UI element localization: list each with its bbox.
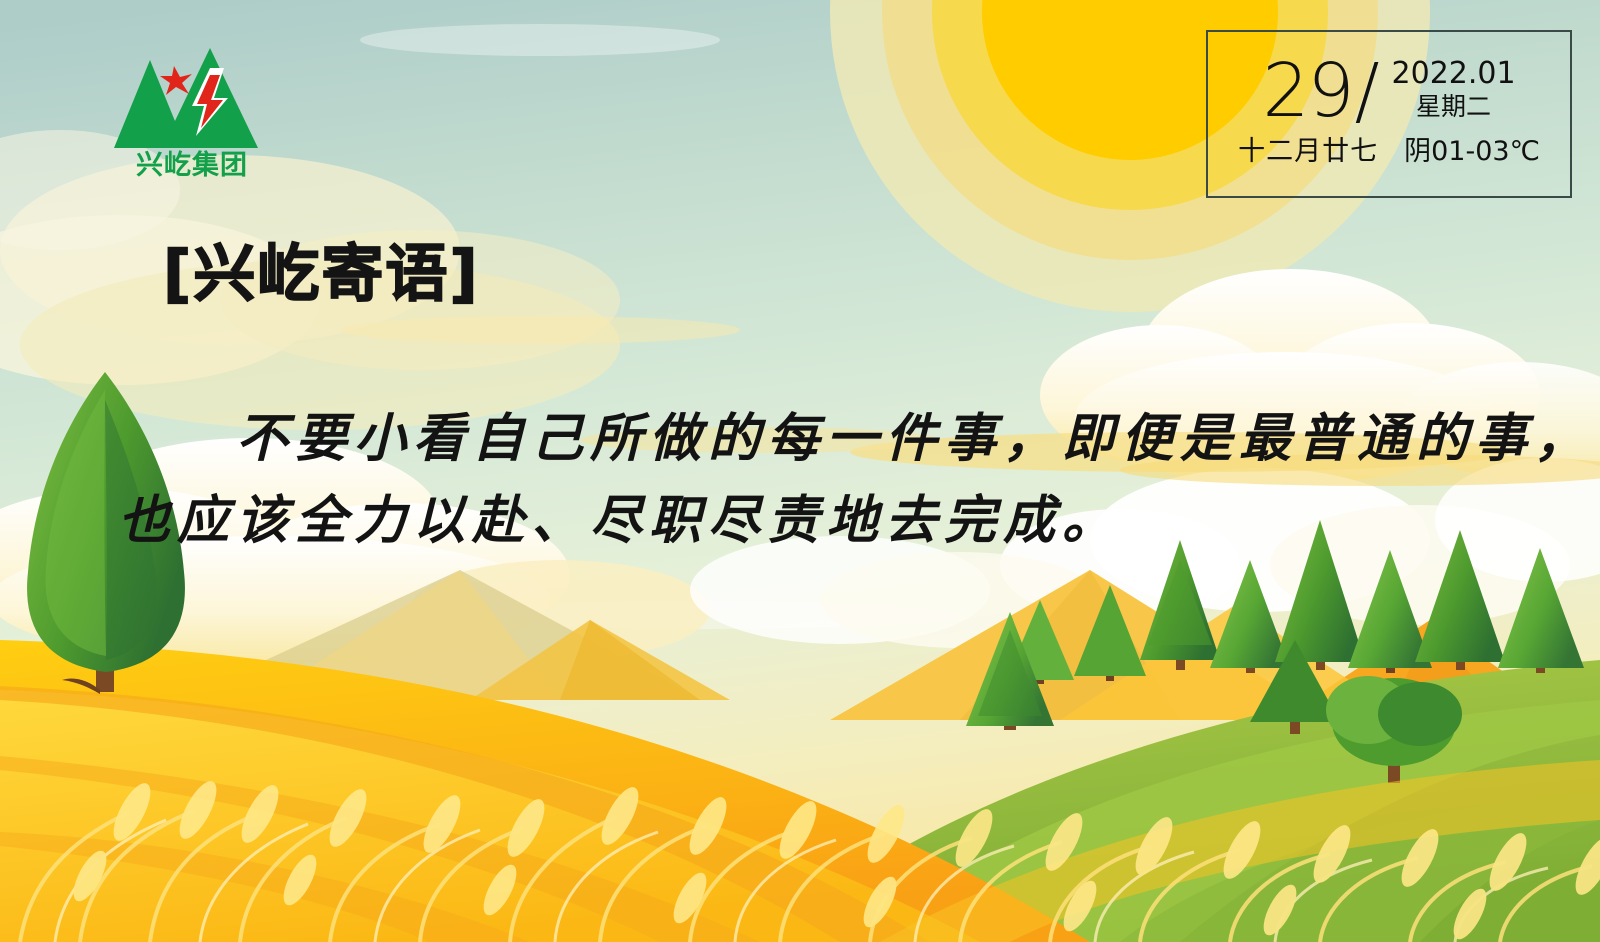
- poster-canvas: 兴屹集团 29 / 2022.01 星期二 十二月廿七 阴01-03℃ [兴屹寄…: [0, 0, 1600, 942]
- logo-mark: 兴屹集团: [104, 44, 280, 178]
- date-card-top-row: 29 / 2022.01 星期二: [1208, 36, 1570, 140]
- star-icon: [160, 66, 192, 95]
- day-number: 29: [1262, 54, 1352, 128]
- day-slash: /: [1355, 54, 1378, 128]
- logo-company-name: 兴屹集团: [136, 149, 248, 178]
- weather-info: 阴01-03℃: [1404, 129, 1540, 168]
- weekday: 星期二: [1416, 92, 1491, 122]
- quote-line-2: 也应该全力以赴、尽职尽责地去完成。: [118, 480, 1518, 562]
- date-card-bottom-row: 十二月廿七 阴01-03℃: [1208, 129, 1570, 168]
- day-block: 29 /: [1262, 36, 1377, 128]
- lunar-date: 十二月廿七: [1238, 129, 1378, 168]
- date-weather-card: 29 / 2022.01 星期二 十二月廿七 阴01-03℃: [1206, 30, 1572, 198]
- year-month-block: 2022.01 星期二: [1392, 36, 1516, 122]
- quote-body: 不要小看自己所做的每一件事，即便是最普通的事， 也应该全力以赴、尽职尽责地去完成…: [118, 398, 1518, 562]
- quote-line-1: 不要小看自己所做的每一件事，即便是最普通的事，: [118, 398, 1518, 480]
- company-logo[interactable]: 兴屹集团: [104, 44, 280, 178]
- year-month: 2022.01: [1392, 58, 1516, 90]
- page-title: [兴屹寄语]: [163, 243, 480, 305]
